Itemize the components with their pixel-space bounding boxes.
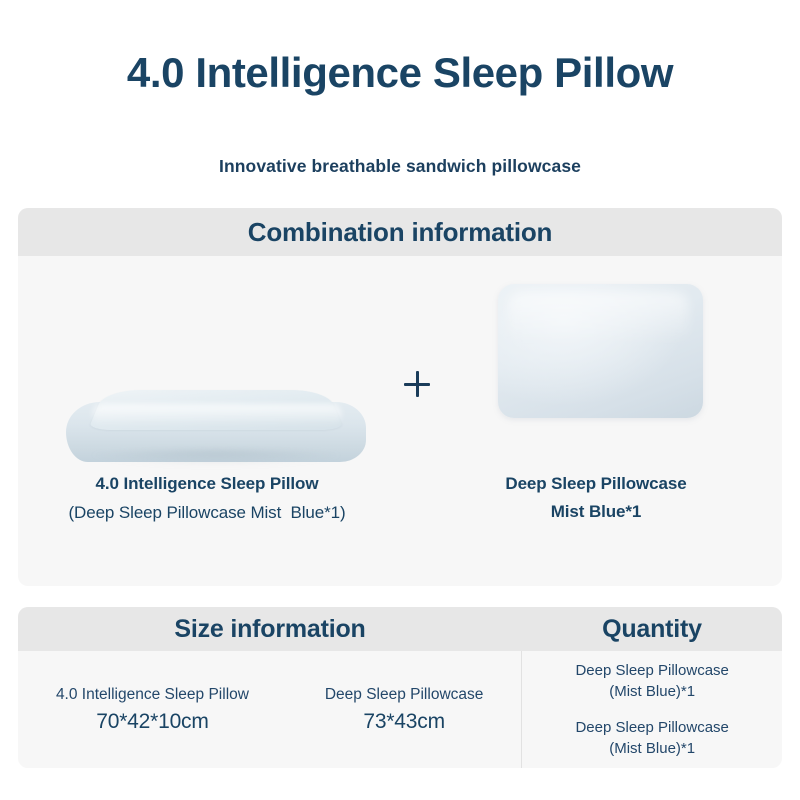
quantity-cell: Deep Sleep Pillowcase (Mist Blue)*1 Deep… [521,651,782,768]
product-infographic: 4.0 Intelligence Sleep Pillow Innovative… [0,0,800,800]
size-quantity-card: Size information Quantity 4.0 Intelligen… [18,607,782,768]
size-groups: 4.0 Intelligence Sleep Pillow 70*42*10cm… [18,683,521,737]
pillowcase-name: Deep Sleep Pillowcase [416,471,776,497]
pillowcase-highlight [508,292,689,344]
size-entry-value: 73*43cm [325,707,484,737]
product-item-sleep-pillow: 4.0 Intelligence Sleep Pillow (Deep Slee… [24,256,390,586]
page-title: 4.0 Intelligence Sleep Pillow [0,46,800,100]
products-row: 4.0 Intelligence Sleep Pillow (Deep Slee… [18,256,782,586]
size-entry-name: 4.0 Intelligence Sleep Pillow [56,683,249,707]
size-information-cell: 4.0 Intelligence Sleep Pillow 70*42*10cm… [18,651,521,768]
sleep-pillow-3d-icon [66,364,366,472]
quantity-entry-line2: (Mist Blue)*1 [575,681,728,702]
pillowcase-caption: Deep Sleep Pillowcase Mist Blue*1 [416,471,776,527]
combination-information-card: Combination information 4.0 Intelligence… [18,208,782,586]
quantity-entry: Deep Sleep Pillowcase (Mist Blue)*1 [575,660,728,702]
size-entry-name: Deep Sleep Pillowcase [325,683,484,707]
product-item-pillowcase: Deep Sleep Pillowcase Mist Blue*1 [416,256,776,586]
page-subtitle: Innovative breathable sandwich pillowcas… [0,154,800,178]
quantity-header: Quantity [522,607,782,651]
sleep-pillow-image-wrap [24,256,390,471]
details-body-row: 4.0 Intelligence Sleep Pillow 70*42*10cm… [18,651,782,768]
sleep-pillow-variant: (Deep Sleep Pillowcase Mist Blue*1) [24,497,390,529]
pillowcase-image-wrap [416,256,776,471]
quantity-entry: Deep Sleep Pillowcase (Mist Blue)*1 [575,717,728,759]
sleep-pillow-caption: 4.0 Intelligence Sleep Pillow (Deep Slee… [24,471,390,529]
pillowcase-flat-icon [498,284,703,418]
pillow-edge-shadow [78,450,354,466]
quantity-entry-line1: Deep Sleep Pillowcase [575,717,728,738]
size-entry-value: 70*42*10cm [56,707,249,737]
size-information-header: Size information [18,607,522,651]
combination-section-header: Combination information [18,208,782,256]
pillowcase-variant: Mist Blue*1 [416,497,776,527]
details-header-row: Size information Quantity [18,607,782,651]
quantity-entry-line1: Deep Sleep Pillowcase [575,660,728,681]
pillow-front-highlight [92,404,342,426]
sleep-pillow-name: 4.0 Intelligence Sleep Pillow [24,471,390,497]
size-entry: 4.0 Intelligence Sleep Pillow 70*42*10cm [56,683,249,737]
size-entry: Deep Sleep Pillowcase 73*43cm [325,683,484,737]
quantity-entry-line2: (Mist Blue)*1 [575,738,728,759]
